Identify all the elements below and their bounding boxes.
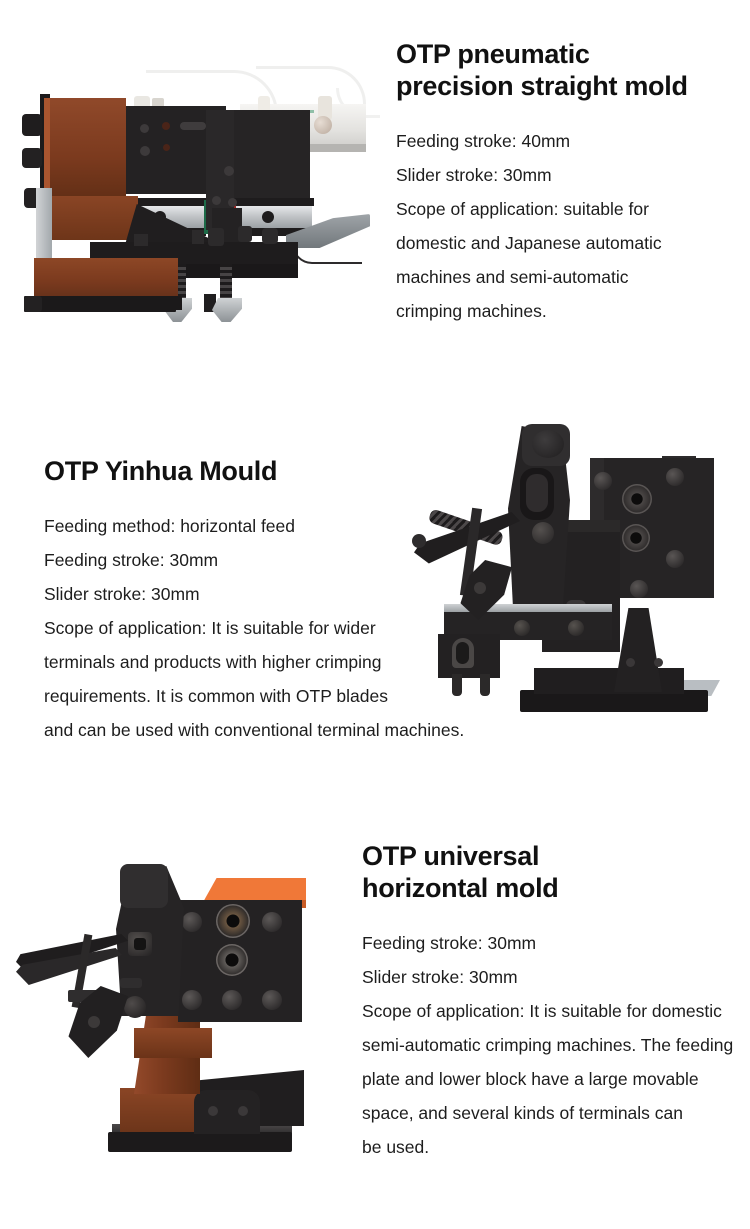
- copper-body-edge-highlight: [44, 98, 50, 198]
- deck-nut-2: [238, 226, 252, 242]
- numbered-adjustment-dial-2: [622, 524, 650, 552]
- spec-line: space, and several kinds of terminals ca…: [362, 1096, 737, 1130]
- saddle-hole-1: [208, 1106, 218, 1116]
- faceplate-bolt-1: [182, 912, 202, 932]
- spec-line: domestic and Japanese automatic: [396, 226, 736, 260]
- heading-line: OTP pneumatic: [396, 39, 590, 69]
- spec-line: terminals and products with higher crimp…: [44, 645, 524, 679]
- right-black-block: [234, 110, 310, 202]
- adjust-knob-1: [22, 114, 42, 136]
- housing-slot: [180, 122, 206, 130]
- spec-block-otp-pneumatic-precision-straight-mold: OTP pneumatic precision straight mold Fe…: [396, 38, 736, 328]
- spec-line: crimping machines.: [396, 294, 736, 328]
- heading-line: OTP Yinhua Mould: [44, 456, 277, 486]
- numbered-adjustment-dial-1: [216, 904, 250, 938]
- copper-lower-body: [34, 258, 178, 300]
- numbered-adjustment-dial-2: [216, 944, 248, 976]
- spec-line: semi-automatic crimping machines. The fe…: [362, 1028, 737, 1062]
- black-base-deck-lower: [174, 264, 298, 278]
- copper-center-shelf: [134, 1028, 212, 1058]
- spec-line: and can be used with conventional termin…: [44, 713, 524, 747]
- tension-spring-2: [220, 264, 232, 302]
- spec-block-otp-universal-horizontal-mold: OTP universal horizontal mold Feeding st…: [362, 840, 737, 1164]
- housing-hole-3: [140, 146, 150, 156]
- faceplate-bolt-5: [262, 990, 282, 1010]
- spec-line: plate and lower block have a large movab…: [362, 1062, 737, 1096]
- deck-nut-4: [192, 230, 204, 244]
- pneumatic-port-2: [314, 116, 332, 134]
- page-title-otp-pneumatic: OTP pneumatic precision straight mold: [396, 38, 736, 102]
- spec-line: Feeding stroke: 30mm: [362, 926, 737, 960]
- spec-line: Scope of application: It is suitable for…: [44, 611, 524, 645]
- copper-mid-block: [52, 196, 138, 240]
- center-column-hole-1: [224, 166, 234, 176]
- feed-pin: [120, 978, 142, 988]
- spec-line: Feeding stroke: 40mm: [396, 124, 736, 158]
- product-image-otp-pneumatic-precision-straight-mold: [6, 48, 378, 320]
- adjust-knob-4: [24, 296, 42, 312]
- trailing-wire: [292, 244, 362, 264]
- pillar-hole-2: [654, 658, 663, 667]
- lower-black-saddle: [194, 1090, 260, 1134]
- housing-hole-4: [163, 144, 170, 151]
- faceplate-bolt-4: [666, 550, 684, 568]
- spec-line: requirements. It is common with OTP blad…: [44, 679, 524, 713]
- mold-base-plate: [108, 1132, 292, 1152]
- housing-hole-1: [140, 124, 149, 133]
- faceplate-bolt-4: [222, 990, 242, 1010]
- spec-line: Scope of application: It is suitable for…: [362, 994, 737, 1028]
- heading-line: horizontal mold: [362, 873, 558, 903]
- numbered-adjustment-dial-1: [622, 484, 652, 514]
- adjust-knob-2: [22, 148, 42, 168]
- ram-tower-nut-bore: [134, 938, 146, 950]
- faceplate-bolt-3: [182, 990, 202, 1010]
- rail-backing-right-top: [234, 198, 314, 206]
- adjustment-faceplate: [604, 458, 714, 598]
- ram-tower-slot-inner: [526, 474, 548, 512]
- faceplate-bolt-2: [262, 912, 282, 932]
- heading-line: OTP universal: [362, 841, 539, 871]
- product-image-otp-universal-horizontal-mold: [16, 838, 336, 1168]
- heading-line: precision straight mold: [396, 71, 688, 101]
- deck-nut-3: [262, 228, 278, 244]
- feed-sled-bolt-2: [568, 620, 584, 636]
- deck-nut-5: [134, 234, 148, 246]
- pivot-nut: [124, 996, 146, 1018]
- spec-line: Feeding stroke: 30mm: [44, 543, 524, 577]
- spec-line: Slider stroke: 30mm: [44, 577, 524, 611]
- spec-list-otp-universal: Feeding stroke: 30mm Slider stroke: 30mm…: [362, 926, 737, 1164]
- spec-line: Scope of application: suitable for: [396, 192, 736, 226]
- spec-list-otp-yinhua: Feeding method: horizontal feed Feeding …: [44, 509, 524, 747]
- spec-list-otp-pneumatic: Feeding stroke: 40mm Slider stroke: 30mm…: [396, 124, 736, 328]
- saddle-hole-2: [238, 1106, 248, 1116]
- ram-tower-bolt: [532, 522, 554, 544]
- center-column-hole-2: [212, 196, 221, 205]
- pillar-hole-1: [626, 658, 635, 667]
- linear-rail-right: [236, 206, 312, 228]
- faceplate-bolt-3: [666, 468, 684, 486]
- ram-tower-disc: [532, 430, 564, 458]
- universal-horizontal-mold-illustration: [16, 838, 336, 1168]
- spec-line: Slider stroke: 30mm: [396, 158, 736, 192]
- left-silver-column: [36, 188, 52, 266]
- page-title-otp-yinhua: OTP Yinhua Mould: [44, 455, 524, 487]
- pneumatic-straight-mold-illustration: [6, 48, 378, 320]
- faceplate-bolt-5: [630, 580, 648, 598]
- linear-rail-right-hole: [262, 211, 274, 223]
- copper-main-body: [44, 98, 126, 198]
- page-title-otp-universal: OTP universal horizontal mold: [362, 840, 737, 904]
- spec-block-otp-yinhua-mould: OTP Yinhua Mould Feeding method: horizon…: [44, 455, 524, 747]
- ram-tower-cap: [120, 864, 168, 908]
- silver-clamp-2: [212, 298, 242, 322]
- spec-line: be used.: [362, 1130, 737, 1164]
- feed-pawl-pivot-bolt: [88, 1016, 100, 1028]
- product-spec-page: OTP pneumatic precision straight mold Fe…: [0, 0, 750, 1229]
- right-support-pillar: [614, 608, 662, 692]
- faceplate-bolt-1: [594, 472, 612, 490]
- center-column-hole-3: [228, 198, 237, 207]
- spec-line: Feeding method: horizontal feed: [44, 509, 524, 543]
- spec-line: machines and semi-automatic: [396, 260, 736, 294]
- spec-line: Slider stroke: 30mm: [362, 960, 737, 994]
- housing-hole-2: [162, 122, 170, 130]
- mold-base-plate: [24, 296, 176, 312]
- deck-nut-1: [208, 228, 224, 246]
